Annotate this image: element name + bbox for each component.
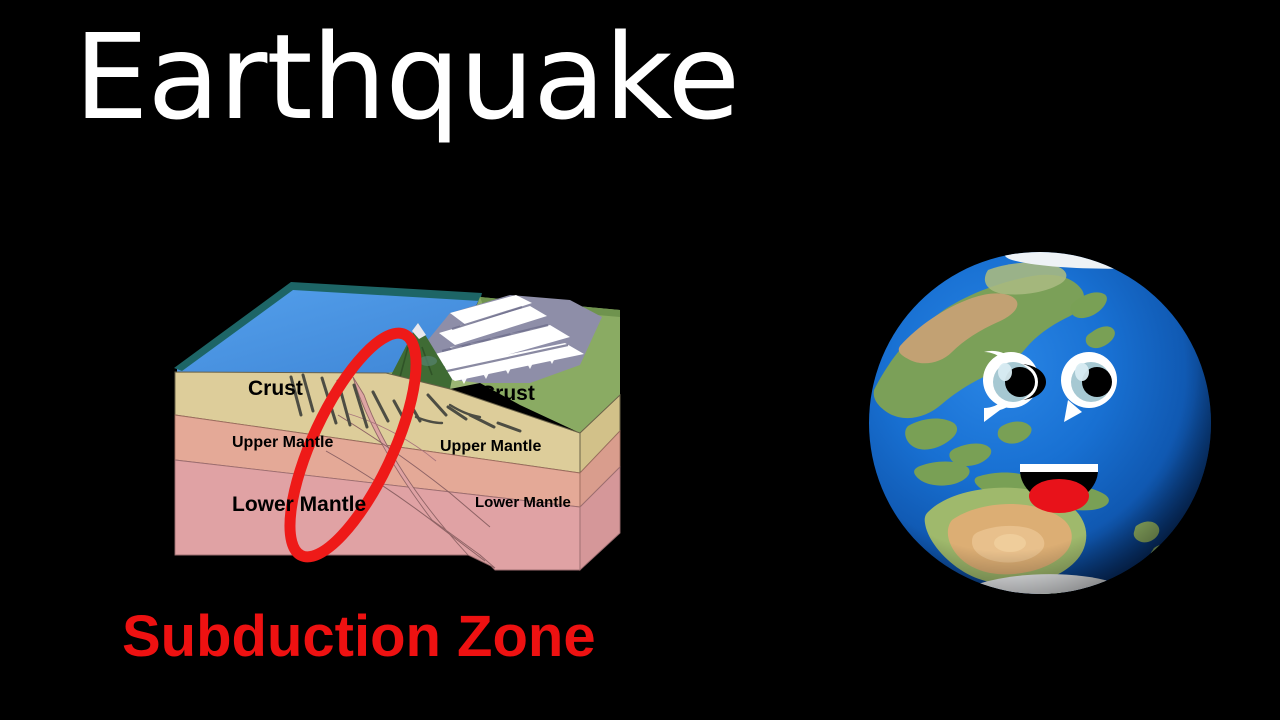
video-frame: Earthquake (0, 0, 1280, 720)
cartoon-earth-character (860, 240, 1220, 600)
label-lower-mantle-right: Lower Mantle (475, 494, 571, 511)
left-eye-highlight (998, 363, 1012, 381)
caption-subduction-zone: Subduction Zone (122, 608, 596, 666)
subduction-zone-diagram: Crust Crust Upper Mantle Upper Mantle Lo… (150, 255, 650, 585)
page-title: Earthquake (74, 18, 739, 136)
label-crust-right: Crust (480, 382, 535, 405)
mouth-teeth (1020, 464, 1098, 472)
tongue (1029, 479, 1089, 513)
volcano-crater-lake (419, 356, 437, 366)
label-upper-mantle-left: Upper Mantle (232, 434, 333, 451)
label-lower-mantle-left: Lower Mantle (232, 493, 366, 516)
label-crust-left: Crust (248, 377, 303, 400)
label-upper-mantle-right: Upper Mantle (440, 438, 541, 455)
right-eye-highlight (1075, 363, 1089, 381)
globe-limb-shadow (869, 252, 1211, 594)
